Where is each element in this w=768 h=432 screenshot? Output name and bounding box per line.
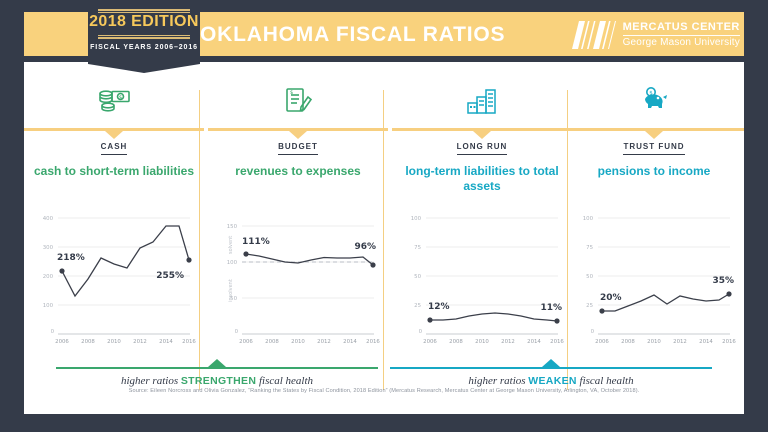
strengthen-caption: higher ratios STRENGTHEN fiscal health <box>56 375 378 387</box>
svg-text:2016: 2016 <box>550 339 564 345</box>
mercatus-logo: MERCATUS CENTER George Mason University <box>572 20 740 50</box>
svg-text:50: 50 <box>414 274 421 280</box>
long-run-start-label: 12% <box>428 302 450 312</box>
svg-text:200: 200 <box>43 274 54 280</box>
svg-text:100: 100 <box>43 303 54 309</box>
svg-text:2006: 2006 <box>55 339 69 345</box>
weaken-caption: higher ratios WEAKEN fiscal health <box>390 375 712 387</box>
panel-rule-cash <box>24 128 204 131</box>
budget-document-icon: $ <box>208 84 388 118</box>
svg-text:2016: 2016 <box>722 339 736 345</box>
svg-text:75: 75 <box>414 245 421 251</box>
svg-text:2006: 2006 <box>595 339 609 345</box>
long-run-assets-icon <box>392 84 572 118</box>
weaken-strong: WEAKEN <box>528 375 576 387</box>
svg-text:75: 75 <box>586 245 593 251</box>
svg-text:2012: 2012 <box>133 339 147 345</box>
svg-text:2006: 2006 <box>423 339 437 345</box>
trust-fund-start-label: 20% <box>600 293 622 303</box>
svg-text:400: 400 <box>43 216 54 222</box>
svg-text:150: 150 <box>227 224 238 230</box>
panel-title-trust-fund: pensions to income <box>564 164 744 179</box>
page-title: OKLAHOMA FISCAL RATIOS <box>200 23 505 47</box>
svg-text:2010: 2010 <box>475 339 489 345</box>
svg-text:2016: 2016 <box>366 339 380 345</box>
edition-title: 2018 EDITION <box>88 13 200 31</box>
panel-trust-fund: $ TRUST FUND pensions to income <box>564 62 744 362</box>
mercatus-m-mark-icon <box>572 21 616 49</box>
chart-trust-fund: 100 75 50 25 0 2006 2008 2010 2012 2014 … <box>564 202 744 352</box>
logo-divider <box>623 35 740 36</box>
svg-text:2012: 2012 <box>501 339 515 345</box>
budget-end-label: 96% <box>354 242 376 252</box>
svg-text:2008: 2008 <box>81 339 95 345</box>
strengthen-strong: STRENGTHEN <box>181 375 256 387</box>
svg-text:2008: 2008 <box>621 339 635 345</box>
svg-text:$: $ <box>290 90 293 96</box>
badge-rule-bottom-1 <box>98 35 190 36</box>
long-run-end-label: 11% <box>540 303 562 313</box>
svg-text:100: 100 <box>227 260 238 266</box>
svg-text:2012: 2012 <box>317 339 331 345</box>
cash-money-icon: $ <box>24 84 204 118</box>
panel-rule-long-run <box>392 128 572 131</box>
weaken-pre: higher ratios <box>468 375 528 387</box>
panel-title-cash: cash to short-term liabilities <box>24 164 204 179</box>
budget-axis-note-bottom: insolvent <box>228 279 234 302</box>
svg-text:0: 0 <box>51 329 55 335</box>
svg-text:$: $ <box>649 91 653 97</box>
panel-budget: $ BUDGET revenues to expenses 150 <box>208 62 388 362</box>
panel-kicker-long-run: LONG RUN <box>392 142 572 151</box>
svg-text:$: $ <box>119 95 123 101</box>
svg-text:25: 25 <box>414 303 421 309</box>
strengthen-pre: higher ratios <box>121 375 181 387</box>
badge-rule-bottom-2 <box>98 37 190 39</box>
chart-long-run: 100 75 50 25 0 2006 2008 2010 2012 2014 … <box>392 202 572 352</box>
chart-cash: 400 300 200 100 0 2006 2008 2010 2012 20… <box>24 202 204 352</box>
svg-text:25: 25 <box>586 303 593 309</box>
chart-budget: 150 100 50 0 2006 2008 2010 2012 2014 20… <box>208 202 388 352</box>
svg-text:2014: 2014 <box>343 339 357 345</box>
svg-text:2010: 2010 <box>647 339 661 345</box>
panel-long-run: LONG RUN long-term liabilities to total … <box>392 62 572 362</box>
svg-text:2014: 2014 <box>699 339 713 345</box>
svg-text:2008: 2008 <box>449 339 463 345</box>
strengthen-post: fiscal health <box>256 375 313 387</box>
svg-text:2012: 2012 <box>673 339 687 345</box>
weaken-post: fiscal health <box>577 375 634 387</box>
cash-end-label: 255% <box>156 271 184 281</box>
cash-start-label: 218% <box>57 253 85 263</box>
svg-text:0: 0 <box>235 329 239 335</box>
svg-text:0: 0 <box>419 329 423 335</box>
panel-kicker-cash: CASH <box>24 142 204 151</box>
budget-start-label: 111% <box>242 237 270 247</box>
panel-rule-budget <box>208 128 388 131</box>
panel-title-long-run: long-term liabilities to total assets <box>392 164 572 194</box>
svg-text:2014: 2014 <box>159 339 173 345</box>
svg-text:2010: 2010 <box>107 339 121 345</box>
svg-text:100: 100 <box>411 216 422 222</box>
weaken-bar <box>390 367 712 369</box>
content-sheet: $ CASH cash to short-term liabilities 40… <box>24 62 744 414</box>
trust-fund-end-label: 35% <box>712 276 734 286</box>
strengthen-bar <box>56 367 378 369</box>
svg-text:2006: 2006 <box>239 339 253 345</box>
svg-text:50: 50 <box>586 274 593 280</box>
svg-text:2008: 2008 <box>265 339 279 345</box>
edition-badge: 2018 EDITION FISCAL YEARS 2006–2016 <box>88 0 200 64</box>
panel-kicker-trust-fund: TRUST FUND <box>564 142 744 151</box>
panel-kicker-budget: BUDGET <box>208 142 388 151</box>
logo-org-name: MERCATUS CENTER <box>623 22 740 33</box>
svg-text:2014: 2014 <box>527 339 541 345</box>
svg-text:0: 0 <box>591 329 595 335</box>
svg-text:2010: 2010 <box>291 339 305 345</box>
panel-cash: $ CASH cash to short-term liabilities 40… <box>24 62 204 362</box>
fiscal-years-label: FISCAL YEARS 2006–2016 <box>88 44 200 51</box>
infographic-root: 2018 EDITION FISCAL YEARS 2006–2016 OKLA… <box>0 0 768 432</box>
svg-text:300: 300 <box>43 245 54 251</box>
budget-axis-note-top: solvent <box>228 236 234 254</box>
panel-rule-trust-fund <box>564 128 744 131</box>
svg-text:100: 100 <box>583 216 594 222</box>
panel-title-budget: revenues to expenses <box>208 164 388 179</box>
header-bar: 2018 EDITION FISCAL YEARS 2006–2016 OKLA… <box>0 0 768 68</box>
logo-org-sub: George Mason University <box>623 38 740 48</box>
svg-text:2016: 2016 <box>182 339 196 345</box>
piggy-bank-icon: $ <box>564 84 744 118</box>
source-citation: Source: Eileen Norcross and Olivia Gonza… <box>24 388 744 394</box>
